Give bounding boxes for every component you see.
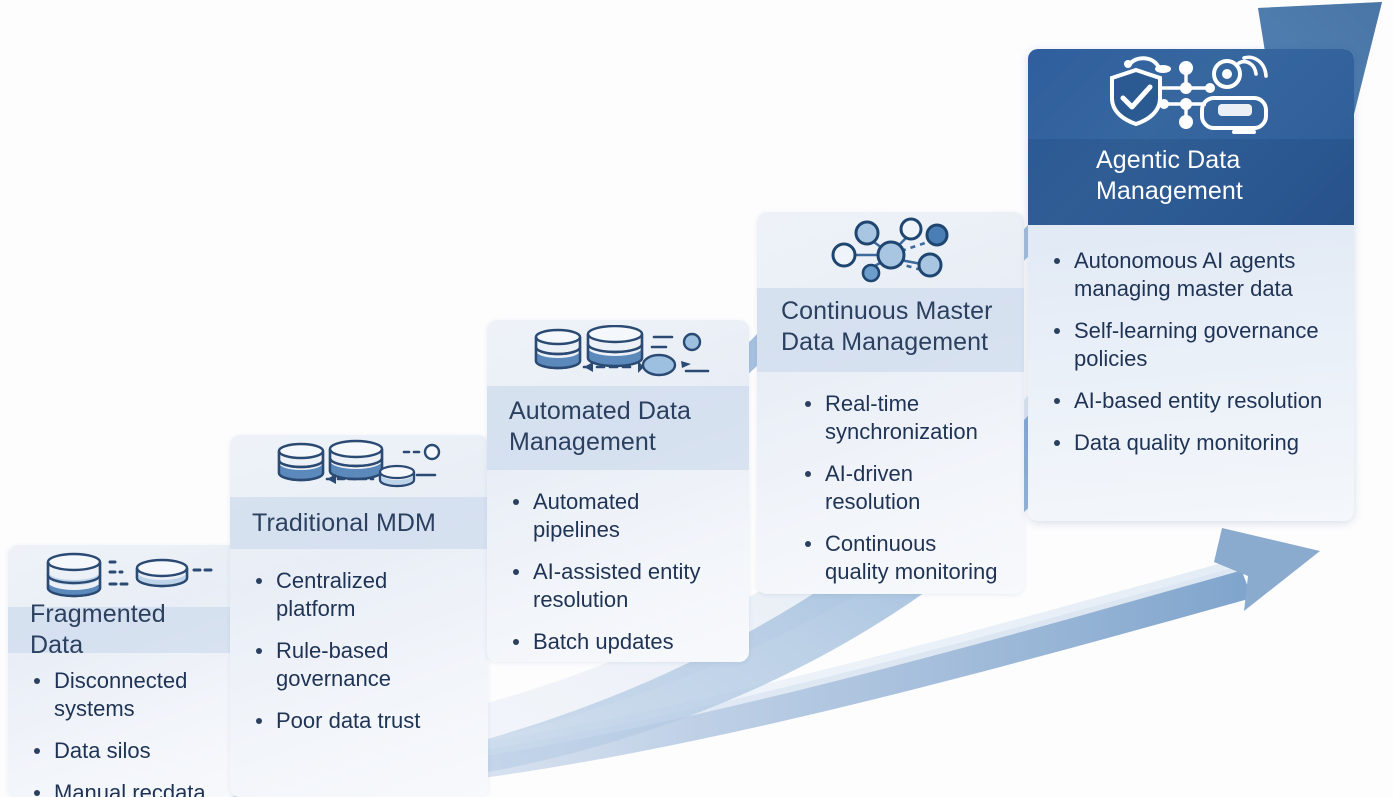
list-item: Centralized platform	[252, 567, 468, 623]
stage-title-band-traditional-mdm: Traditional MDM	[230, 497, 488, 549]
stage-body-fragmented-data: Disconnected systems Data silos Manual r…	[8, 653, 240, 797]
stage-body-automated-data-management: Automated pipelines AI-assisted entity r…	[487, 470, 749, 662]
stage-card-automated-data-management[interactable]: Automated Data Management Automated pipe…	[487, 320, 749, 662]
stage-body-agentic-data-management: Autonomous AI agents managing master dat…	[1028, 225, 1354, 481]
stage-title-automated-data-management: Automated Data Management	[509, 396, 727, 458]
list-item: AI-assisted entity resolution	[509, 558, 729, 614]
stage-card-fragmented-data[interactable]: Fragmented Data Disconnected systems Dat…	[8, 545, 240, 797]
stage-body-continuous-master-data-management: Real-time synchronization AI-driven reso…	[757, 372, 1024, 594]
stage-title-continuous-master-data-management: Continuous Master Data Management	[781, 296, 1002, 358]
stage-body-traditional-mdm: Centralized platform Rule-based governan…	[230, 549, 488, 759]
stage-title-band-automated-data-management: Automated Data Management	[487, 386, 749, 470]
network-nodes-icon	[827, 217, 955, 283]
stage-icon-fragmented-data	[8, 545, 240, 607]
stage-title-traditional-mdm: Traditional MDM	[252, 508, 436, 539]
list-item: Continuous quality monitoring	[801, 530, 1004, 586]
stage-icon-agentic-data-management	[1028, 49, 1354, 139]
stage-header-agentic-data-management: Agentic Data Management	[1028, 49, 1354, 225]
stage-title-band-continuous-master-data-management: Continuous Master Data Management	[757, 288, 1024, 372]
list-item: Data quality monitoring	[1050, 429, 1334, 457]
stage-title-agentic-data-management: Agentic Data Management	[1096, 145, 1332, 207]
stage-icon-continuous-master-data-management	[757, 212, 1024, 288]
list-item: AI-based entity resolution	[1050, 387, 1334, 415]
stage-card-traditional-mdm[interactable]: Traditional MDM Centralized platform Rul…	[230, 435, 488, 797]
list-item: Manual recdata	[30, 779, 220, 797]
list-item: Self-learning governance policies	[1050, 317, 1334, 373]
stage-bullets-continuous-master-data-management: Real-time synchronization AI-driven reso…	[801, 390, 1004, 586]
stage-icon-automated-data-management	[487, 320, 749, 386]
stage-card-continuous-master-data-management[interactable]: Continuous Master Data Management Real-t…	[757, 212, 1024, 594]
stage-bullets-agentic-data-management: Autonomous AI agents managing master dat…	[1050, 247, 1334, 457]
list-item: AI-driven resolution	[801, 460, 1004, 516]
list-item: Rule-based governance	[252, 637, 468, 693]
stage-icon-traditional-mdm	[230, 435, 488, 497]
stage-bullets-automated-data-management: Automated pipelines AI-assisted entity r…	[509, 488, 729, 656]
stage-bullets-traditional-mdm: Centralized platform Rule-based governan…	[252, 567, 468, 735]
stage-card-agentic-data-management[interactable]: Agentic Data Management Autonomous AI ag…	[1028, 49, 1354, 521]
stage-title-band-fragmented-data: Fragmented Data	[8, 607, 240, 653]
list-item: Batch updates	[509, 628, 729, 656]
linked-databases-icon	[269, 439, 449, 493]
shield-agent-network-icon	[1106, 54, 1276, 134]
stage-title-band-agentic-data-management: Agentic Data Management	[1028, 139, 1354, 225]
list-item: Automated pipelines	[509, 488, 729, 544]
disconnected-databases-icon	[34, 550, 214, 602]
automated-databases-icon	[526, 325, 711, 381]
list-item: Data silos	[30, 737, 220, 765]
list-item: Real-time synchronization	[801, 390, 1004, 446]
stage-bullets-fragmented-data: Disconnected systems Data silos Manual r…	[30, 667, 220, 797]
maturity-progression-diagram: Fragmented Data Disconnected systems Dat…	[0, 0, 1393, 797]
list-item: Disconnected systems	[30, 667, 220, 723]
list-item: Poor data trust	[252, 707, 468, 735]
stage-title-fragmented-data: Fragmented Data	[30, 599, 218, 661]
list-item: Autonomous AI agents managing master dat…	[1050, 247, 1334, 303]
